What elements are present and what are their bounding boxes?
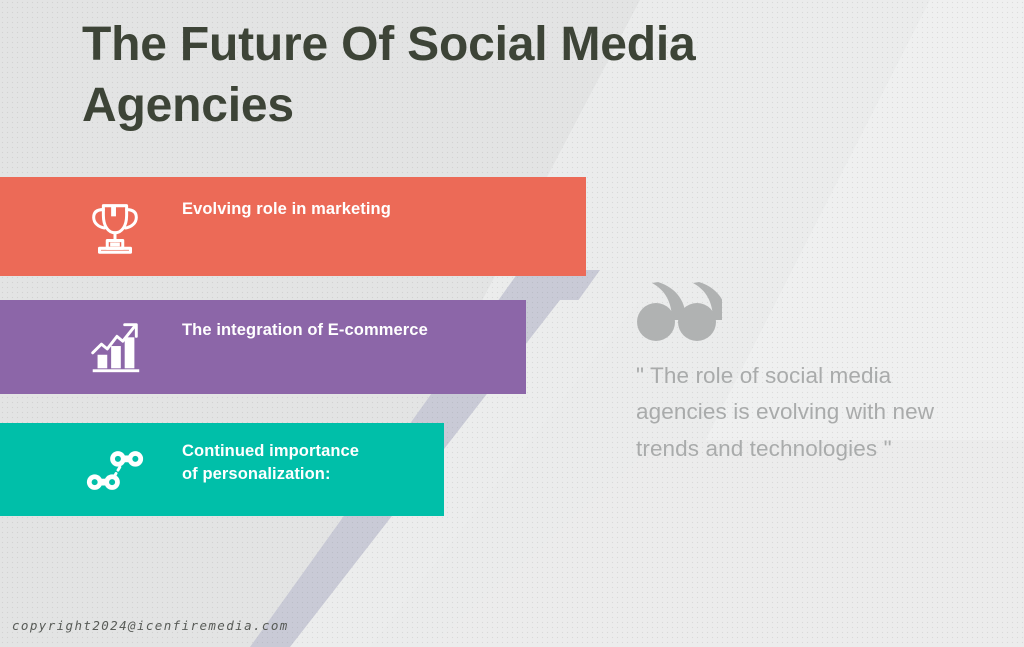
page-title: The Future Of Social Media Agencies [82,14,822,137]
feature-bar-personalization[interactable]: Continued importance of personalization: [0,423,444,516]
feature-bar-evolving-role[interactable]: Evolving role in marketing [0,177,586,276]
feature-bar-label: The integration of E-commerce [182,319,428,342]
feature-bar-label: Continued importance of personalization: [182,440,359,487]
network-nodes-icon [84,439,146,501]
quotation-mark-icon [636,282,722,344]
feature-bar-label: Evolving role in marketing [182,198,391,221]
slide-canvas: The Future Of Social Media Agencies Evol… [0,0,1024,647]
growth-chart-icon [84,316,146,378]
trophy-icon [84,196,146,258]
quote-text: " The role of social media agencies is e… [636,358,976,467]
feature-bar-content: Continued importance of personalization: [0,423,444,516]
feature-bar-content: Evolving role in marketing [0,177,586,276]
feature-bar-content: The integration of E-commerce [0,300,526,394]
feature-bar-ecommerce[interactable]: The integration of E-commerce [0,300,526,394]
quote-block: " The role of social media agencies is e… [636,282,976,467]
copyright-footer: copyright2024@icenfiremedia.com [12,618,289,633]
